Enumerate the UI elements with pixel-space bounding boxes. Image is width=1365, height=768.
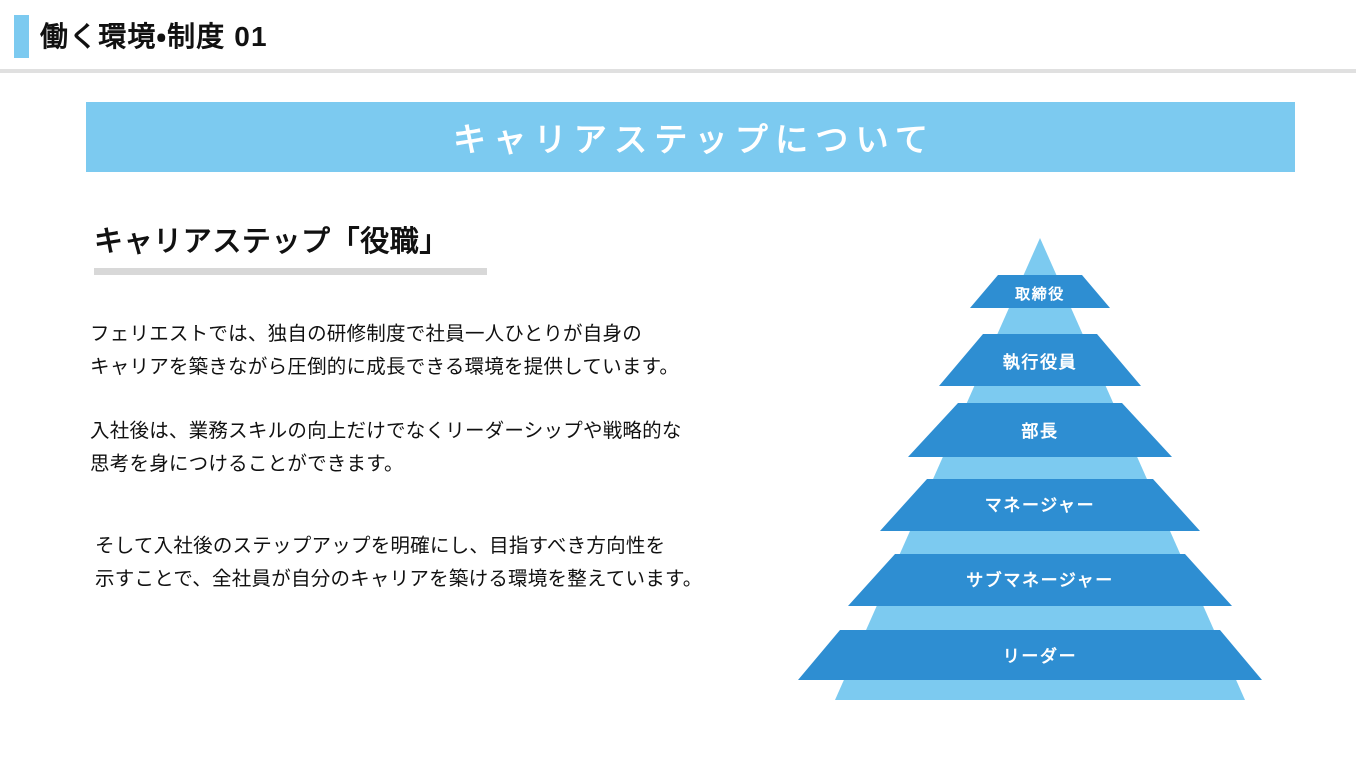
career-step-pyramid: 取締役 執行役員 部長 マネージャー サブマネージャー リーダー (780, 230, 1300, 720)
pyramid-tier-3-label: 部長 (1021, 421, 1058, 441)
paragraph-3: そして入社後のステップアップを明確にし、目指すべき方向性を 示すことで、全社員が… (90, 530, 830, 596)
pyramid-tier-5-label: サブマネージャー (966, 570, 1114, 590)
body-copy: フェリエストでは、独自の研修制度で社員一人ひとりが自身の キャリアを築きながら圧… (90, 318, 830, 596)
page-title: 働く環境・制度 01 (40, 16, 268, 58)
banner-title: キャリアステップについて (446, 113, 935, 161)
section-heading: キャリアステップ「役職」 (94, 218, 449, 260)
pyramid-tier-6-label: リーダー (1003, 646, 1077, 666)
paragraph-1: フェリエストでは、独自の研修制度で社員一人ひとりが自身の キャリアを築きながら圧… (90, 318, 830, 384)
pyramid-tier-4-label: マネージャー (985, 496, 1095, 515)
slide-header: 働く環境・制度 01 (0, 0, 1365, 71)
pyramid-tier-1-label: 取締役 (1015, 285, 1065, 303)
header-divider (0, 69, 1356, 73)
section-banner: キャリアステップについて (86, 102, 1295, 172)
paragraph-2: 入社後は、業務スキルの向上だけでなくリーダーシップや戦略的な 思考を身につけるこ… (90, 415, 830, 481)
header-accent-bar (14, 15, 29, 58)
pyramid-tier-2-label: 執行役員 (1003, 352, 1077, 372)
section-heading-underline (94, 268, 487, 275)
